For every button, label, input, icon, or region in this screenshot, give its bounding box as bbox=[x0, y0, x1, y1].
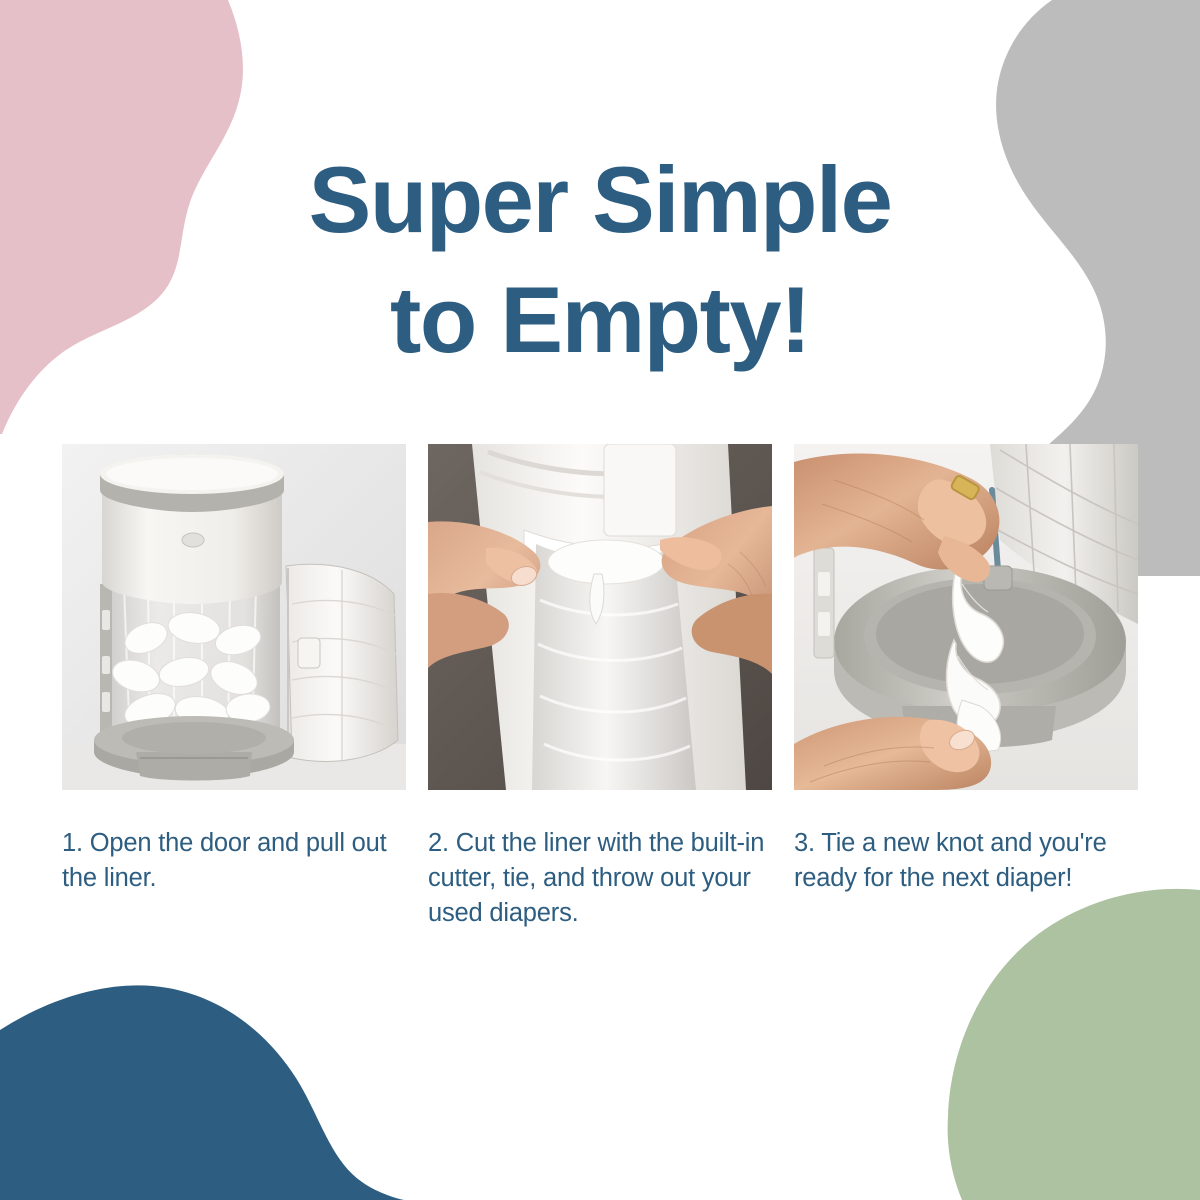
step-1-caption: 1. Open the door and pull out the liner. bbox=[62, 826, 406, 896]
step-1: 1. Open the door and pull out the liner. bbox=[62, 444, 406, 932]
green-blob-bottom-right bbox=[948, 889, 1200, 1200]
cutting-liner-hands-photo bbox=[428, 444, 772, 790]
page-title: Super Simple to Empty! bbox=[0, 140, 1200, 381]
step-2: 2. Cut the liner with the built-in cutte… bbox=[428, 444, 772, 932]
title-line-2: to Empty! bbox=[0, 260, 1200, 380]
poster-canvas: Super Simple to Empty! bbox=[0, 0, 1200, 1200]
step-2-caption: 2. Cut the liner with the built-in cutte… bbox=[428, 826, 772, 932]
navy-blob-bottom-left bbox=[0, 995, 404, 1200]
navy-blob-bottom-left-mass bbox=[0, 985, 404, 1200]
tying-knot-hands-photo bbox=[794, 444, 1138, 790]
title-line-1: Super Simple bbox=[0, 140, 1200, 260]
steps-grid: 1. Open the door and pull out the liner. bbox=[62, 444, 1138, 932]
step-3-caption: 3. Tie a new knot and you're ready for t… bbox=[794, 826, 1138, 896]
step-3: 3. Tie a new knot and you're ready for t… bbox=[794, 444, 1138, 932]
step-3-photo bbox=[794, 444, 1138, 790]
diaper-pail-open-door-photo bbox=[62, 444, 406, 790]
step-1-photo bbox=[62, 444, 406, 790]
step-2-photo bbox=[428, 444, 772, 790]
